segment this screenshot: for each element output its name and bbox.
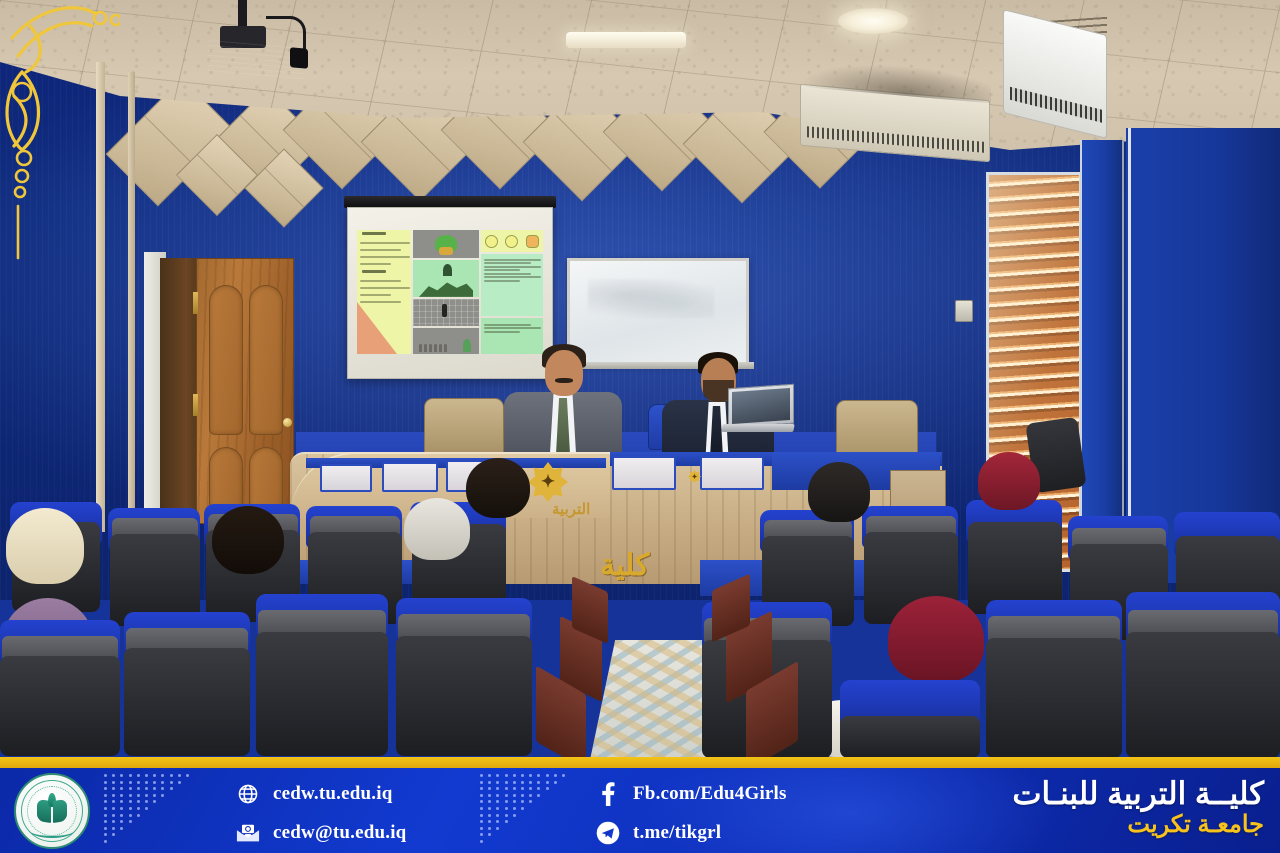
attendee-head-hijab-maroon bbox=[888, 596, 984, 682]
university-name-arabic: جامعـة تكريت bbox=[934, 811, 1264, 839]
attendee-head-dark bbox=[212, 506, 284, 574]
slide-orange-triangle bbox=[357, 302, 397, 354]
envelope-icon bbox=[236, 821, 260, 845]
slide-text-line bbox=[360, 263, 391, 265]
laptop-display bbox=[732, 388, 790, 424]
podium-placard bbox=[320, 464, 372, 492]
seat-back bbox=[124, 648, 250, 756]
slide-person-icon bbox=[526, 235, 539, 248]
seat-back bbox=[1126, 632, 1280, 757]
ceiling-projector bbox=[208, 12, 304, 68]
left-wall-trim bbox=[96, 62, 105, 532]
footer-social: Fb.com/Edu4Girls t.me/tikgrl bbox=[596, 780, 787, 847]
flame-icon bbox=[48, 793, 56, 807]
podium-placard bbox=[382, 462, 438, 492]
projector-lens bbox=[290, 47, 308, 69]
speaker-left-mustache bbox=[555, 378, 573, 383]
slide-text-line bbox=[484, 269, 520, 271]
slide-text-line bbox=[484, 273, 531, 275]
slide-photo-people bbox=[413, 328, 479, 354]
door-panel bbox=[249, 447, 283, 509]
footer-contacts: cedw.tu.edu.iq cedw@tu.edu.iq bbox=[236, 780, 406, 847]
window-pillar bbox=[1080, 140, 1124, 580]
slide-heading bbox=[362, 270, 386, 273]
door-hinge bbox=[193, 292, 198, 314]
slide-text-line bbox=[360, 256, 410, 258]
podium-arabic-text: كلية bbox=[600, 548, 649, 583]
facebook-icon bbox=[596, 782, 620, 806]
attendee-head-hijab-grey bbox=[404, 498, 470, 560]
seat-back bbox=[256, 632, 388, 756]
ceiling-light bbox=[566, 32, 686, 48]
slide-people-figures bbox=[419, 344, 447, 352]
telegram-url: t.me/tikgrl bbox=[633, 822, 721, 844]
footer-arabic-block: كليــة التربية للبنـات جامعـة تكريت bbox=[934, 778, 1264, 838]
podium-star-emblem: ✦ bbox=[528, 462, 570, 504]
left-wall-trim bbox=[128, 72, 135, 527]
slide-photo-crowd bbox=[413, 299, 479, 327]
dot-pattern-middle bbox=[480, 774, 572, 848]
slide-text-line bbox=[484, 280, 520, 282]
telegram-icon bbox=[596, 821, 620, 845]
podium-placard bbox=[700, 456, 764, 490]
slide-text-line bbox=[484, 327, 541, 329]
attendee-head-hijab-cream bbox=[6, 508, 84, 584]
pillar-edge-trim bbox=[1128, 128, 1131, 583]
website-url: cedw.tu.edu.iq bbox=[273, 783, 392, 805]
door-hinge bbox=[193, 394, 198, 416]
slide-smiley-icon bbox=[505, 235, 518, 248]
ac-vent-grill bbox=[1010, 87, 1102, 123]
globe-icon bbox=[236, 782, 260, 806]
slide-photo-plants bbox=[413, 230, 479, 258]
eight-point-star-icon: ✦ bbox=[688, 470, 701, 483]
slide-smiley-icon bbox=[485, 235, 498, 248]
social-facebook[interactable]: Fb.com/Edu4Girls bbox=[596, 780, 787, 808]
slide-middle-column bbox=[413, 230, 479, 354]
slide-text-line bbox=[360, 287, 410, 289]
slide-text-line bbox=[484, 276, 541, 278]
executive-chair bbox=[424, 398, 504, 456]
photo-scene: ✦ ✦ ✦ كلية التربية bbox=[0, 0, 1280, 757]
slide-text-line bbox=[360, 242, 410, 244]
seat-back bbox=[0, 656, 120, 756]
slide-text-line bbox=[360, 249, 401, 251]
door-panel bbox=[249, 285, 283, 435]
attendee-head-hijab-black bbox=[808, 462, 870, 522]
slide-photo-landscape bbox=[413, 260, 479, 297]
poster-root: ✦ ✦ ✦ كلية التربية bbox=[0, 0, 1280, 853]
slide-panel-mint bbox=[481, 254, 543, 316]
seat-back bbox=[840, 716, 980, 757]
dot-pattern-left bbox=[104, 774, 196, 848]
door-panel bbox=[209, 285, 243, 435]
footer-bar: cedw.tu.edu.iq cedw@tu.edu.iq bbox=[0, 768, 1280, 853]
college-emblem-logo bbox=[14, 773, 90, 849]
open-book-icon bbox=[37, 800, 67, 822]
whiteboard-smudge bbox=[588, 279, 715, 317]
slide-right-column bbox=[481, 230, 543, 354]
speaker-left bbox=[500, 340, 630, 460]
wooden-door[interactable] bbox=[196, 258, 294, 524]
contact-website[interactable]: cedw.tu.edu.iq bbox=[236, 780, 406, 808]
seat-back bbox=[396, 636, 532, 756]
slide-heading bbox=[362, 232, 386, 235]
slide-text-line bbox=[484, 262, 531, 264]
social-telegram[interactable]: t.me/tikgrl bbox=[596, 819, 787, 847]
slide-text-line bbox=[484, 259, 541, 261]
attendee-head-dark bbox=[466, 458, 530, 518]
wheat-wreath-icon bbox=[29, 822, 75, 838]
podium-arabic-subtext: التربية bbox=[552, 500, 590, 518]
wall-outlet bbox=[955, 300, 973, 322]
door-panel bbox=[209, 447, 243, 509]
attendee-head-hijab-maroon bbox=[978, 452, 1040, 510]
laptop-keyboard bbox=[721, 424, 794, 432]
facebook-url: Fb.com/Edu4Girls bbox=[633, 783, 787, 805]
college-name-arabic: كليــة التربية للبنـات bbox=[934, 778, 1264, 811]
contact-email[interactable]: cedw@tu.edu.iq bbox=[236, 819, 406, 847]
eight-point-star-icon: ✦ bbox=[528, 462, 568, 502]
slide-text-line bbox=[484, 266, 541, 268]
gold-divider-bar bbox=[0, 757, 1280, 768]
slide-text-line bbox=[360, 280, 401, 282]
speaker-left-head bbox=[545, 350, 583, 396]
slide-text-line bbox=[484, 324, 531, 326]
slide-panel-yellow bbox=[357, 230, 411, 354]
email-address: cedw@tu.edu.iq bbox=[273, 822, 406, 844]
slide-text-line bbox=[484, 331, 520, 333]
podium-placard bbox=[612, 456, 676, 490]
door-knob[interactable] bbox=[283, 418, 292, 427]
ceiling-light bbox=[838, 8, 908, 34]
seat-back bbox=[986, 638, 1122, 757]
presentation-slide bbox=[357, 230, 545, 354]
slide-icon-row bbox=[481, 230, 543, 252]
slide-text-line bbox=[360, 294, 391, 296]
laptop-screen bbox=[728, 384, 794, 429]
